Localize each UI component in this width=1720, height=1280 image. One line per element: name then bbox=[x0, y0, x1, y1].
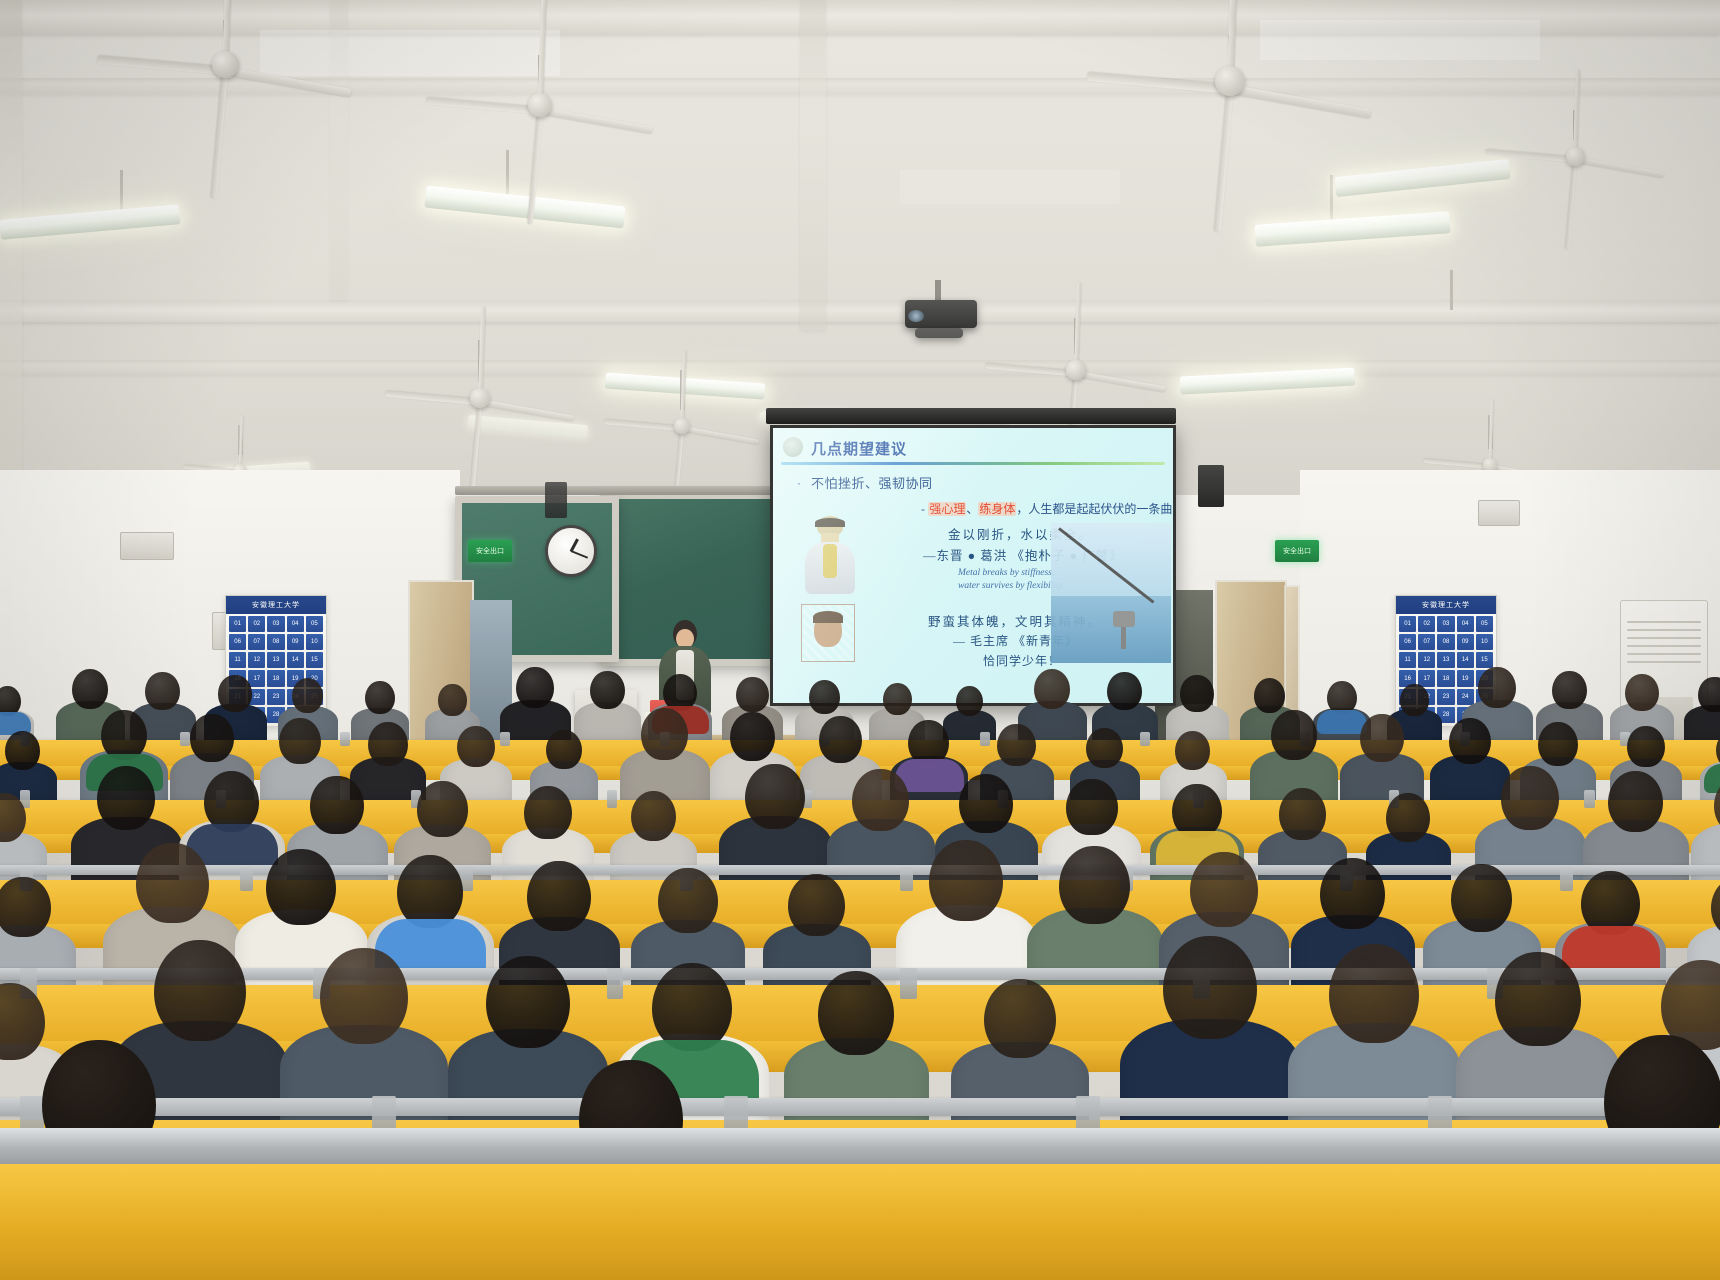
ceiling-fan bbox=[420, 55, 660, 119]
ceiling-beam-vertical bbox=[800, 0, 826, 330]
audience-head bbox=[641, 708, 688, 760]
banner-cell: 02 bbox=[248, 616, 265, 632]
banner-cell: 14 bbox=[287, 652, 304, 668]
audience-head bbox=[788, 874, 845, 936]
audience-head bbox=[818, 971, 894, 1054]
audience-head bbox=[959, 774, 1013, 834]
slide-title-rule bbox=[781, 462, 1165, 465]
banner-cell: 09 bbox=[1457, 634, 1474, 650]
projector-mount bbox=[935, 280, 941, 302]
audience-head bbox=[546, 730, 582, 770]
audience-head bbox=[809, 680, 840, 714]
wall-speaker bbox=[545, 482, 567, 518]
foreground-desk-rail bbox=[0, 1128, 1720, 1164]
audience-head bbox=[730, 712, 775, 761]
ceiling-beam bbox=[0, 360, 1720, 374]
mao-stamp-portrait bbox=[801, 604, 855, 662]
slide-line-2-sep: 、 bbox=[966, 502, 978, 516]
audience-head bbox=[1400, 684, 1429, 715]
projector-lens bbox=[908, 310, 924, 322]
banner-cell: 02 bbox=[1418, 616, 1435, 632]
audience-head bbox=[1360, 714, 1404, 762]
audience-head bbox=[852, 769, 909, 831]
fan-blade bbox=[1424, 459, 1491, 469]
slide-highlight-a: 强心理 bbox=[928, 502, 966, 516]
fan-blade bbox=[97, 56, 225, 75]
banner-cell: 04 bbox=[1457, 616, 1474, 632]
audience-head bbox=[1034, 669, 1070, 709]
audience-head bbox=[1329, 944, 1419, 1043]
audience-head bbox=[438, 684, 467, 715]
audience-head bbox=[266, 849, 336, 925]
audience-head bbox=[1059, 846, 1130, 924]
banner-cell: 13 bbox=[1437, 652, 1454, 668]
audience-head bbox=[997, 724, 1036, 767]
banner-cell: 09 bbox=[287, 634, 304, 650]
audience-head bbox=[417, 781, 468, 836]
screen-roller bbox=[766, 408, 1176, 424]
banner-left-title: 安徽理工大学 bbox=[226, 596, 326, 614]
fan-blade bbox=[385, 391, 480, 405]
light-rod bbox=[506, 150, 509, 198]
fan-blade bbox=[426, 97, 540, 114]
audience-head bbox=[631, 791, 677, 841]
audience-head bbox=[1175, 731, 1210, 769]
audience-head bbox=[1163, 936, 1257, 1039]
exit-sign-right: 安全出口 bbox=[1275, 540, 1319, 562]
ceiling-beam bbox=[0, 300, 1720, 322]
control-panel bbox=[120, 532, 174, 560]
slide-line-1: 不怕挫折、强韧协同 bbox=[811, 473, 933, 492]
audience-head bbox=[1172, 784, 1221, 838]
audience-head bbox=[1190, 852, 1258, 927]
audience-head bbox=[956, 686, 984, 716]
banner-cell: 05 bbox=[1476, 616, 1493, 632]
audience-head bbox=[486, 956, 570, 1048]
presentation-slide: 几点期望建议 · 不怕挫折、强韧协同 - 强心理、练身体，人生都是起起伏伏的一条… bbox=[773, 428, 1173, 703]
chalkboard-rail bbox=[455, 486, 795, 495]
lecture-hall-photo: 安全出口 安全出口 安徽理工大学 01020304050607080910111… bbox=[0, 0, 1720, 1280]
fan-hub bbox=[470, 388, 490, 408]
audience-head bbox=[1698, 677, 1720, 713]
audience-head bbox=[457, 726, 495, 768]
audience-head bbox=[190, 714, 234, 762]
banner-cell: 01 bbox=[1399, 616, 1416, 632]
control-panel bbox=[1478, 500, 1520, 526]
banner-cell: 11 bbox=[229, 652, 246, 668]
audience-head bbox=[527, 861, 590, 930]
audience-head bbox=[145, 672, 180, 710]
audience-head bbox=[590, 671, 626, 710]
audience-head bbox=[929, 840, 1003, 921]
clock-hand-minute bbox=[571, 550, 588, 559]
ceiling-beam bbox=[0, 0, 22, 520]
audience-head bbox=[365, 681, 395, 714]
banner-cell: 07 bbox=[1418, 634, 1435, 650]
projection-screen: 几点期望建议 · 不怕挫折、强韧协同 - 强心理、练身体，人生都是起起伏伏的一条… bbox=[770, 425, 1176, 706]
exit-sign-left-label: 安全出口 bbox=[476, 546, 504, 556]
light-rod bbox=[1450, 270, 1453, 310]
audience-head bbox=[652, 963, 732, 1051]
wall-clock bbox=[545, 525, 597, 577]
audience-head bbox=[516, 667, 553, 708]
audience-head bbox=[1271, 710, 1317, 760]
banner-cell: 11 bbox=[1399, 652, 1416, 668]
banner-cell: 05 bbox=[306, 616, 323, 632]
audience-head bbox=[745, 764, 804, 829]
slide-quote-2-extra: 恰同学少年！ bbox=[983, 652, 1061, 669]
fishing-photo bbox=[1051, 523, 1171, 663]
university-logo-icon bbox=[783, 437, 803, 457]
audience-head bbox=[736, 677, 768, 713]
audience-head bbox=[1386, 793, 1430, 842]
audience-head bbox=[1478, 667, 1515, 708]
audience-head bbox=[1501, 766, 1559, 830]
exit-sign-right-label: 安全出口 bbox=[1283, 546, 1311, 556]
audience-head bbox=[101, 710, 147, 760]
banner-cell: 13 bbox=[267, 652, 284, 668]
fan-blade bbox=[1088, 72, 1231, 93]
fan-blade bbox=[1485, 149, 1575, 163]
slide-quote-1-english: Metal breaks by stiffness, water survive… bbox=[958, 567, 1065, 593]
slide-highlight-b: 练身体 bbox=[978, 502, 1016, 516]
audience-head bbox=[1279, 788, 1326, 839]
desk-rail bbox=[0, 1098, 1720, 1116]
audience-head bbox=[1495, 952, 1581, 1046]
fan-hub bbox=[1066, 360, 1085, 379]
audience-head bbox=[292, 678, 324, 713]
audience-head bbox=[984, 979, 1056, 1058]
banner-cell: 06 bbox=[1399, 634, 1416, 650]
audience-head bbox=[368, 722, 408, 766]
banner-cell: 10 bbox=[306, 634, 323, 650]
fan-hub bbox=[528, 93, 552, 117]
audience-head bbox=[1625, 674, 1659, 711]
audience-head bbox=[1538, 722, 1578, 766]
audience-head bbox=[0, 877, 51, 938]
audience-head bbox=[5, 731, 40, 769]
audience-head bbox=[658, 868, 718, 934]
slide-line-2-rest: ，人生都是起起伏伏的一条曲线 bbox=[1016, 502, 1173, 516]
banner-cell: 15 bbox=[1476, 652, 1493, 668]
banner-cell: 10 bbox=[1476, 634, 1493, 650]
audience-head bbox=[218, 675, 251, 711]
audience-head bbox=[1107, 672, 1142, 710]
banner-cell: 01 bbox=[229, 616, 246, 632]
ceiling-fan bbox=[980, 318, 1172, 384]
banner-cell: 03 bbox=[267, 616, 284, 632]
audience-head bbox=[1086, 728, 1123, 769]
banner-cell: 14 bbox=[1457, 652, 1474, 668]
audience-head bbox=[524, 786, 572, 839]
audience-head bbox=[279, 718, 321, 764]
ceiling-fan bbox=[600, 370, 764, 440]
audience-head bbox=[1451, 864, 1513, 932]
audience-head bbox=[883, 683, 912, 715]
audience-head bbox=[1627, 726, 1665, 768]
audience-head bbox=[154, 940, 246, 1041]
fan-hub bbox=[1566, 147, 1585, 166]
slide-title: 几点期望建议 bbox=[811, 438, 907, 459]
audience-head bbox=[204, 771, 260, 832]
exit-sign-left: 安全出口 bbox=[468, 540, 512, 562]
light-rod bbox=[1330, 175, 1333, 221]
fan-blade bbox=[985, 363, 1076, 377]
slide-bullet-marker: · bbox=[797, 476, 801, 490]
banner-right-title: 安徽理工大学 bbox=[1396, 596, 1496, 614]
audience-head bbox=[1581, 871, 1640, 935]
projector-base bbox=[915, 328, 963, 338]
banner-cell: 03 bbox=[1437, 616, 1454, 632]
ceiling-fan bbox=[1480, 110, 1670, 170]
banner-cell: 08 bbox=[1437, 634, 1454, 650]
scholar-portrait-illustration bbox=[801, 516, 859, 594]
banner-cell: 06 bbox=[229, 634, 246, 650]
audience-head bbox=[1552, 671, 1588, 710]
audience-head bbox=[1320, 858, 1385, 929]
audience-head bbox=[1608, 771, 1664, 832]
audience-head bbox=[310, 776, 363, 834]
banner-cell: 12 bbox=[1418, 652, 1435, 668]
fan-blade bbox=[604, 419, 682, 431]
ceiling-panel bbox=[900, 170, 1120, 204]
audience-head bbox=[1254, 678, 1286, 713]
audience-head bbox=[320, 948, 408, 1045]
wall-speaker bbox=[1198, 465, 1224, 507]
fan-hub bbox=[1215, 66, 1245, 96]
audience-head bbox=[97, 766, 155, 830]
audience-head bbox=[1449, 718, 1491, 764]
slide-quote-1-en-line-2: water survives by flexibility. bbox=[958, 580, 1065, 593]
audience-head bbox=[397, 855, 463, 928]
slide-line-2: - 强心理、练身体，人生都是起起伏伏的一条曲线 bbox=[921, 500, 1173, 517]
banner-cell: 15 bbox=[306, 652, 323, 668]
audience-head bbox=[1066, 779, 1118, 836]
audience-head bbox=[1180, 675, 1213, 711]
audience-head bbox=[72, 669, 108, 709]
ceiling-fan bbox=[380, 340, 580, 412]
banner-cell: 04 bbox=[287, 616, 304, 632]
audience-head bbox=[136, 843, 209, 923]
foreground-desk bbox=[0, 1160, 1720, 1280]
audience-head bbox=[819, 716, 862, 763]
banner-cell: 08 bbox=[267, 634, 284, 650]
banner-cell: 07 bbox=[248, 634, 265, 650]
ceiling-fan bbox=[90, 20, 360, 78]
fan-hub bbox=[212, 51, 239, 78]
ceiling-fan bbox=[1080, 35, 1380, 95]
slide-quote-1-en-line-1: Metal breaks by stiffness, bbox=[958, 567, 1065, 580]
banner-cell: 12 bbox=[248, 652, 265, 668]
